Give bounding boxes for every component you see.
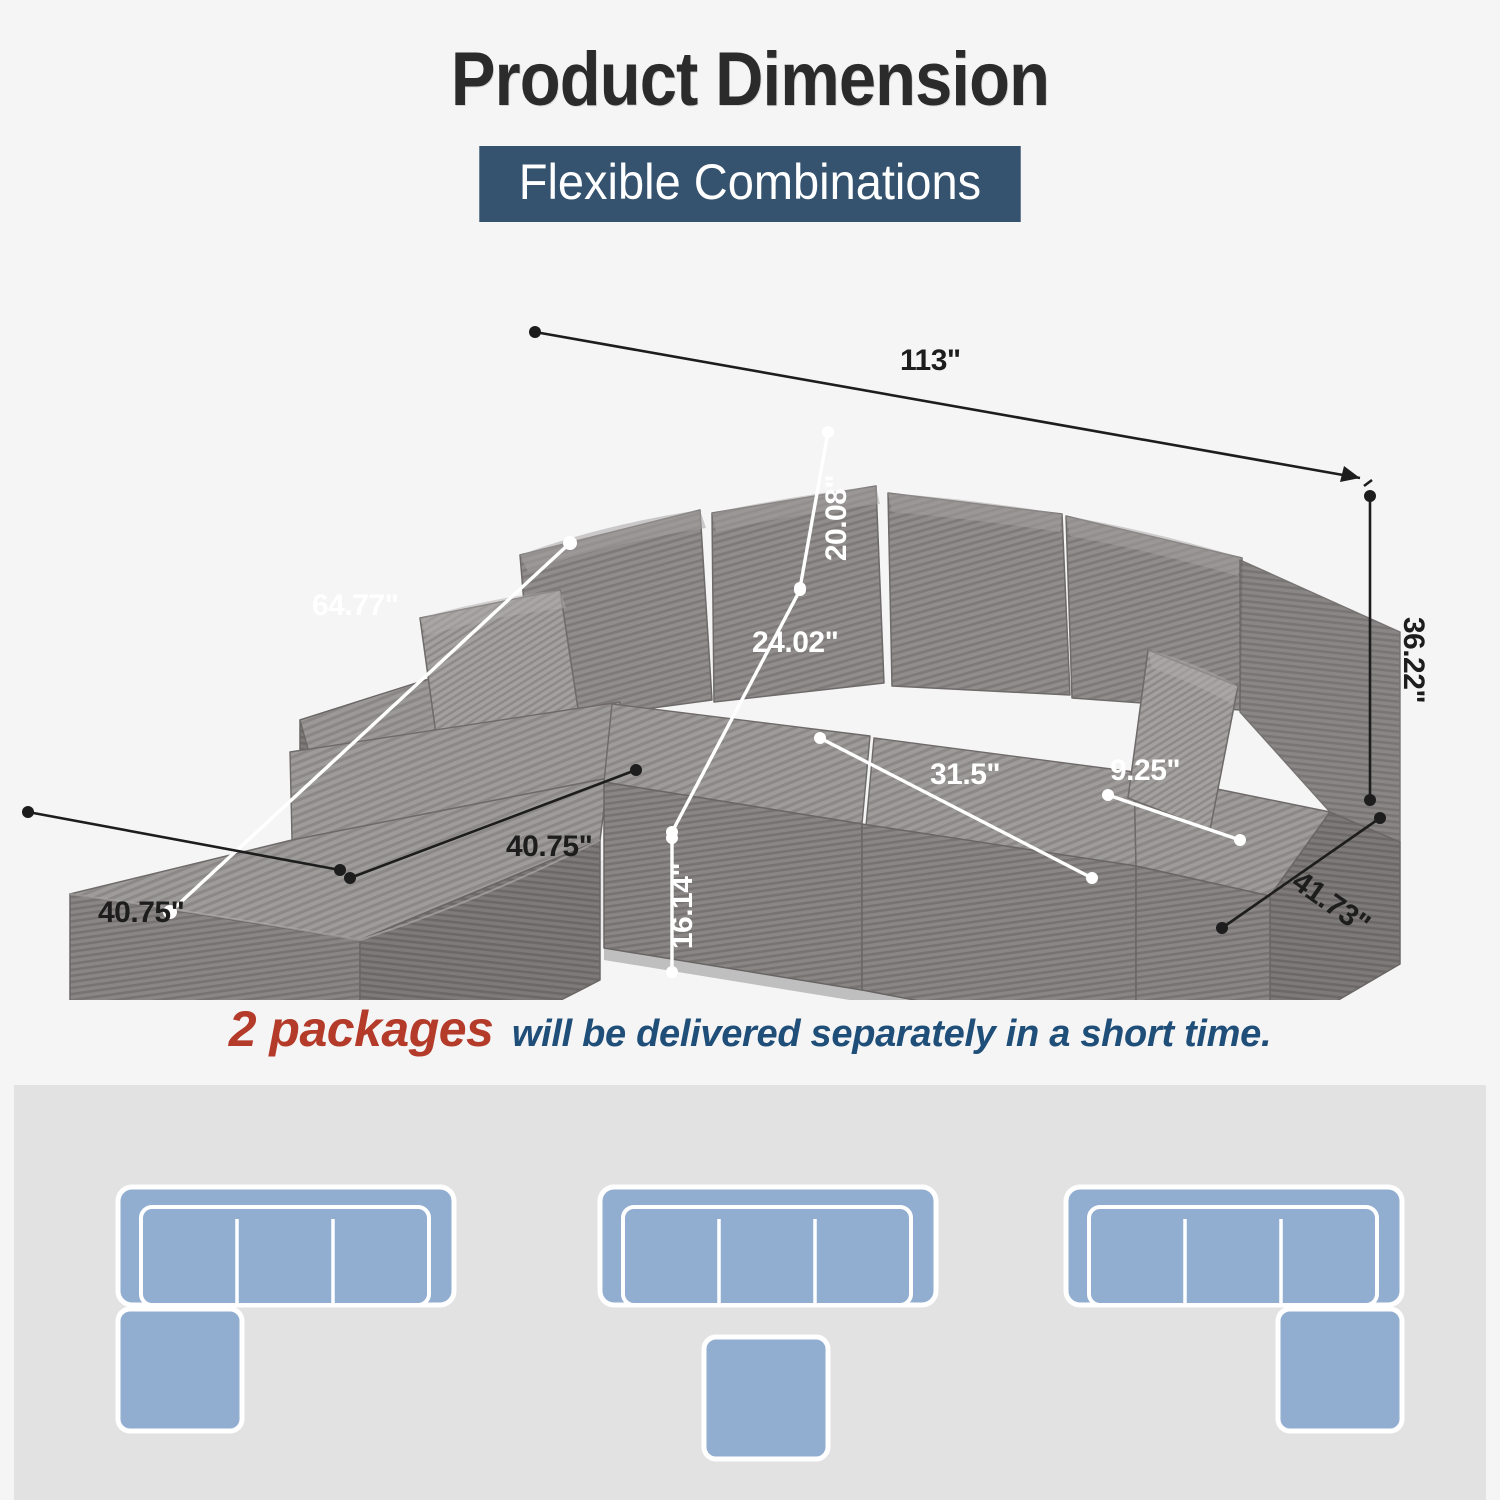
label-overall-height: 36.22" [1397, 617, 1430, 703]
label-overall-width: 113" [900, 344, 961, 377]
ottoman-module-2 [704, 1337, 828, 1459]
configuration-panel [14, 1085, 1486, 1500]
sofa-dimension-illustration: 113" 36.22" 41.73" 20.08" 24.02" 16.14" [0, 300, 1500, 1000]
label-arm-width: 9.25" [1110, 754, 1180, 787]
config-layout-detached-ottoman[interactable] [600, 1187, 936, 1459]
header: Product Dimension Flexible Combinations [0, 0, 1500, 222]
ottoman-module-1 [118, 1309, 242, 1431]
tagline-message: will be delivered separately in a short … [512, 1013, 1271, 1055]
page-title: Product Dimension [90, 42, 1410, 118]
dimension-overall-width: 113" [529, 326, 1360, 482]
dimension-overall-width-leader [1364, 480, 1372, 486]
sofa-seat-area-2 [623, 1207, 911, 1305]
label-chaise-width-side: 40.75" [506, 830, 592, 863]
back-cushions [520, 486, 1242, 724]
subtitle-banner: Flexible Combinations [479, 146, 1020, 222]
sofa-seat-area-3 [1089, 1207, 1377, 1305]
label-seat-depth: 31.5" [930, 758, 1000, 791]
label-chaise-width-front: 40.75" [98, 896, 184, 929]
config-layout-left-chaise[interactable] [118, 1187, 454, 1431]
ottoman-module-3 [1278, 1309, 1402, 1431]
label-seat-height: 16.14" [666, 863, 699, 949]
label-seat-to-back: 24.02" [752, 626, 838, 659]
config-layout-right-chaise[interactable] [1066, 1187, 1402, 1431]
sofa-seat-area-1 [141, 1207, 429, 1305]
label-chaise-length: 64.77" [312, 589, 398, 622]
delivery-tagline: 2 packages will be delivered separately … [0, 1000, 1500, 1058]
label-back-cushion-height: 20.08" [820, 475, 853, 561]
tagline-package-count: 2 packages [229, 1001, 494, 1057]
